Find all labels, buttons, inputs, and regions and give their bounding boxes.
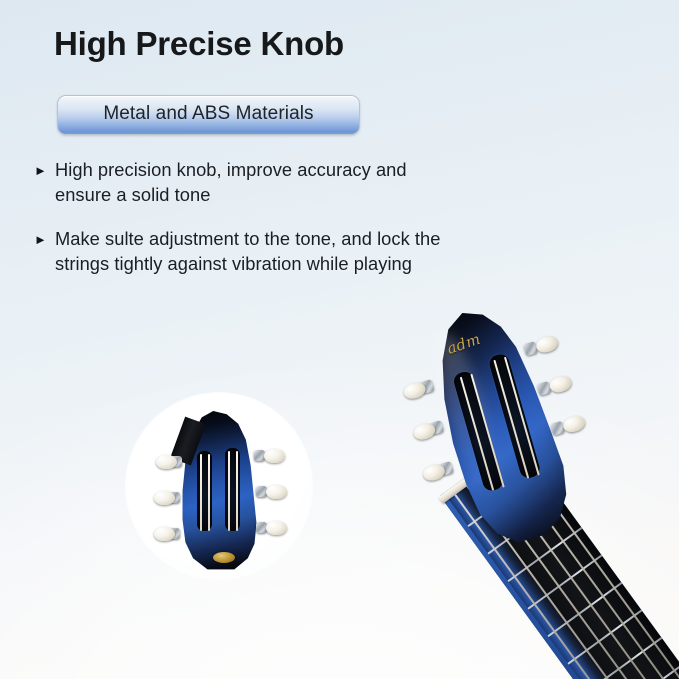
tuner-button <box>534 334 559 354</box>
product-photo-headstock: adm <box>378 286 679 679</box>
headstock-logo-plate <box>213 552 235 563</box>
list-item-text: Make sulte adjustment to the tone, and l… <box>55 226 446 276</box>
guitar-string <box>200 454 202 531</box>
inset-headstock <box>171 411 267 571</box>
tuner-button <box>561 414 586 434</box>
tuning-knob <box>157 489 181 507</box>
materials-badge: Metal and ABS Materials <box>57 95 360 135</box>
list-item: ► High precision knob, improve accuracy … <box>34 157 446 207</box>
feature-list: ► High precision knob, improve accuracy … <box>34 157 446 295</box>
tuning-knob <box>425 458 456 484</box>
triangle-bullet-icon: ► <box>34 227 47 252</box>
guitar-string <box>236 451 238 531</box>
materials-badge-label: Metal and ABS Materials <box>103 103 313 125</box>
tuning-knob <box>524 334 555 360</box>
tuner-button <box>154 527 175 541</box>
tuner-button <box>156 455 177 469</box>
triangle-bullet-icon: ► <box>34 158 47 183</box>
list-item-text: High precision knob, improve accuracy an… <box>55 157 446 207</box>
guitar-string <box>228 451 230 531</box>
product-feature-graphic: High Precise Knob Metal and ABS Material… <box>0 0 679 679</box>
tuner-button <box>264 449 285 463</box>
page-title: High Precise Knob <box>54 25 344 63</box>
tuner-button <box>154 491 175 505</box>
tuning-knob <box>538 374 569 400</box>
tuning-knob <box>257 519 281 537</box>
tuning-knob <box>405 376 436 402</box>
list-item: ► Make sulte adjustment to the tone, and… <box>34 226 446 276</box>
tuning-knob <box>415 417 446 443</box>
tuning-knob <box>257 483 281 501</box>
tuning-knob <box>255 447 279 465</box>
tuner-button <box>266 485 287 499</box>
guitar-headstock: adm <box>404 294 592 556</box>
tuner-button <box>548 374 573 394</box>
tuning-knob <box>159 453 183 471</box>
tuner-button <box>266 521 287 535</box>
tuning-knob <box>157 525 181 543</box>
tuning-knob <box>551 414 582 440</box>
detail-inset-circle <box>126 393 312 579</box>
